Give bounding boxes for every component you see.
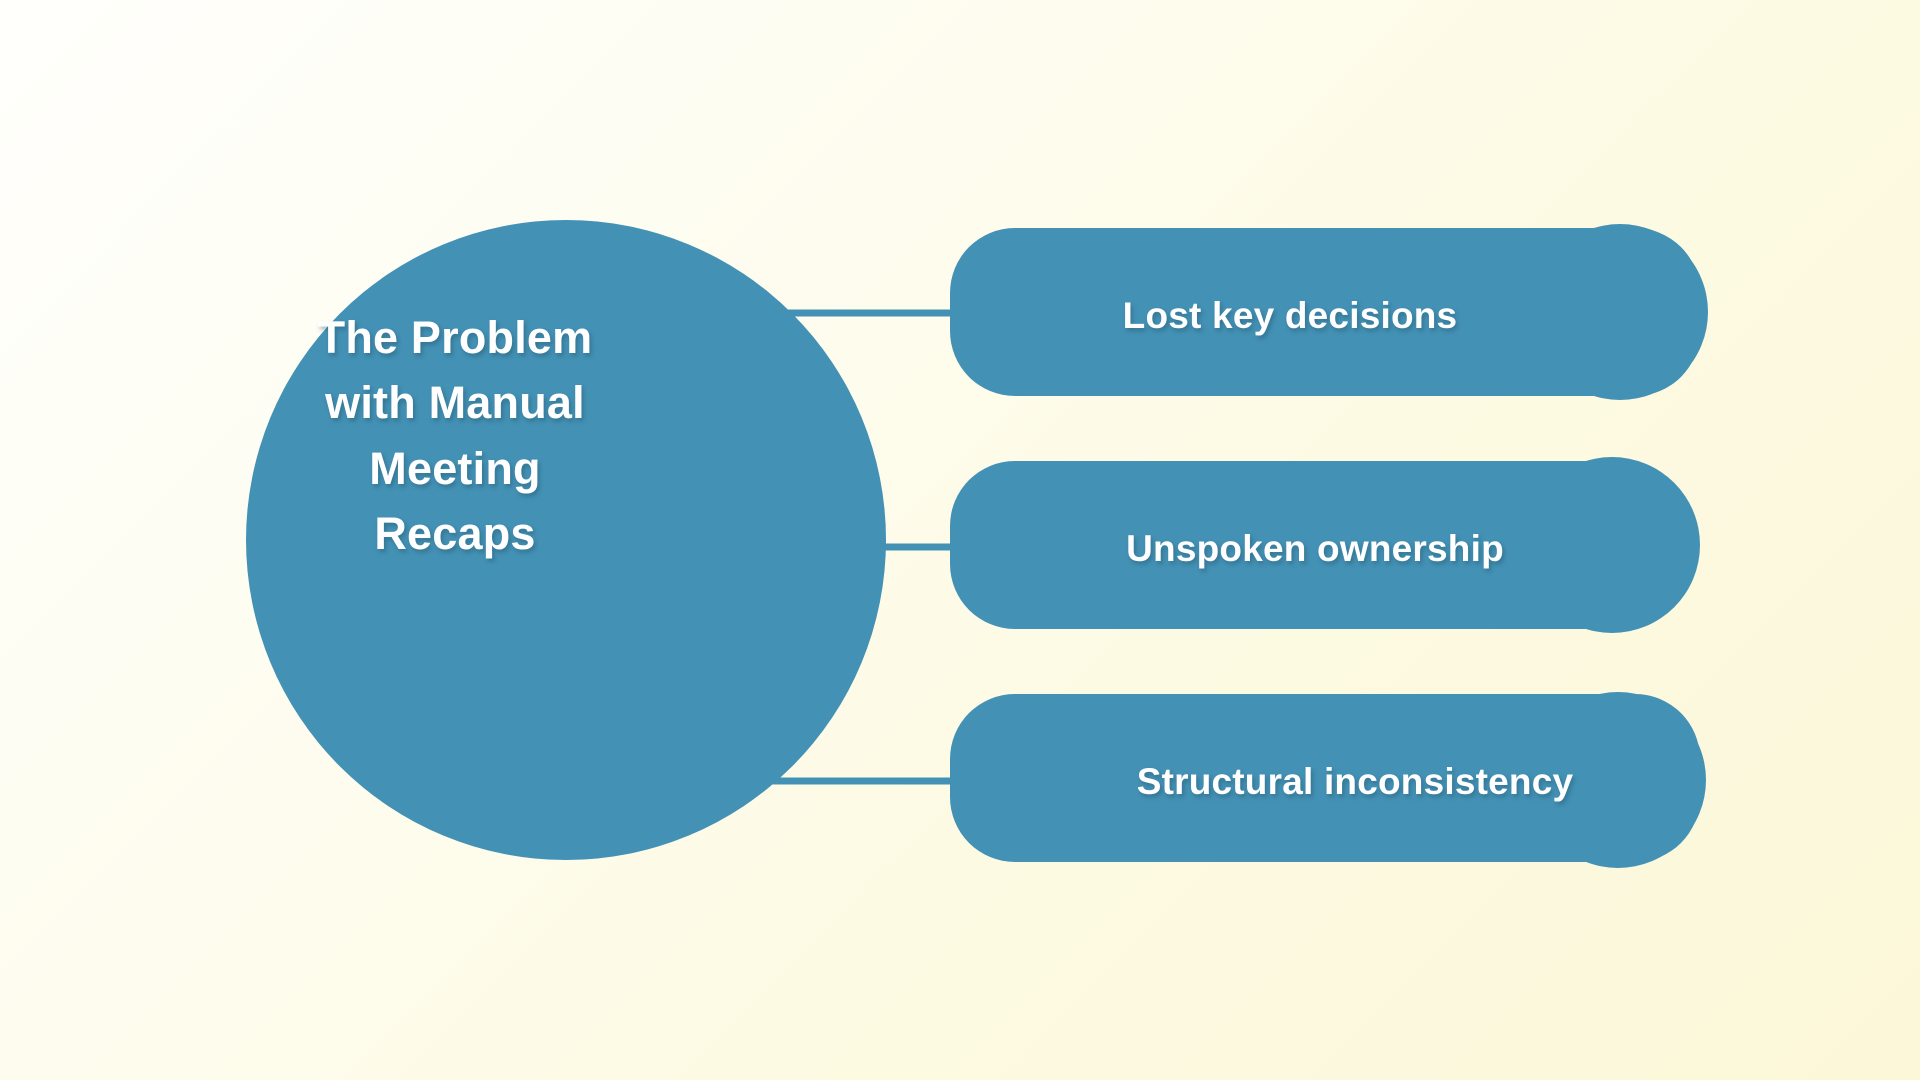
branch-node-2[interactable] xyxy=(950,457,1700,633)
branch-3-pill xyxy=(950,694,1700,862)
mindmap-shapes xyxy=(0,0,1920,1080)
central-node-circle[interactable] xyxy=(246,220,886,860)
mindmap-canvas: The Problem with Manual Meeting Recaps L… xyxy=(0,0,1920,1080)
branch-2-pill xyxy=(950,461,1688,629)
branch-node-3[interactable] xyxy=(950,692,1706,868)
branch-node-1[interactable] xyxy=(950,224,1708,400)
branch-1-pill xyxy=(950,228,1700,396)
